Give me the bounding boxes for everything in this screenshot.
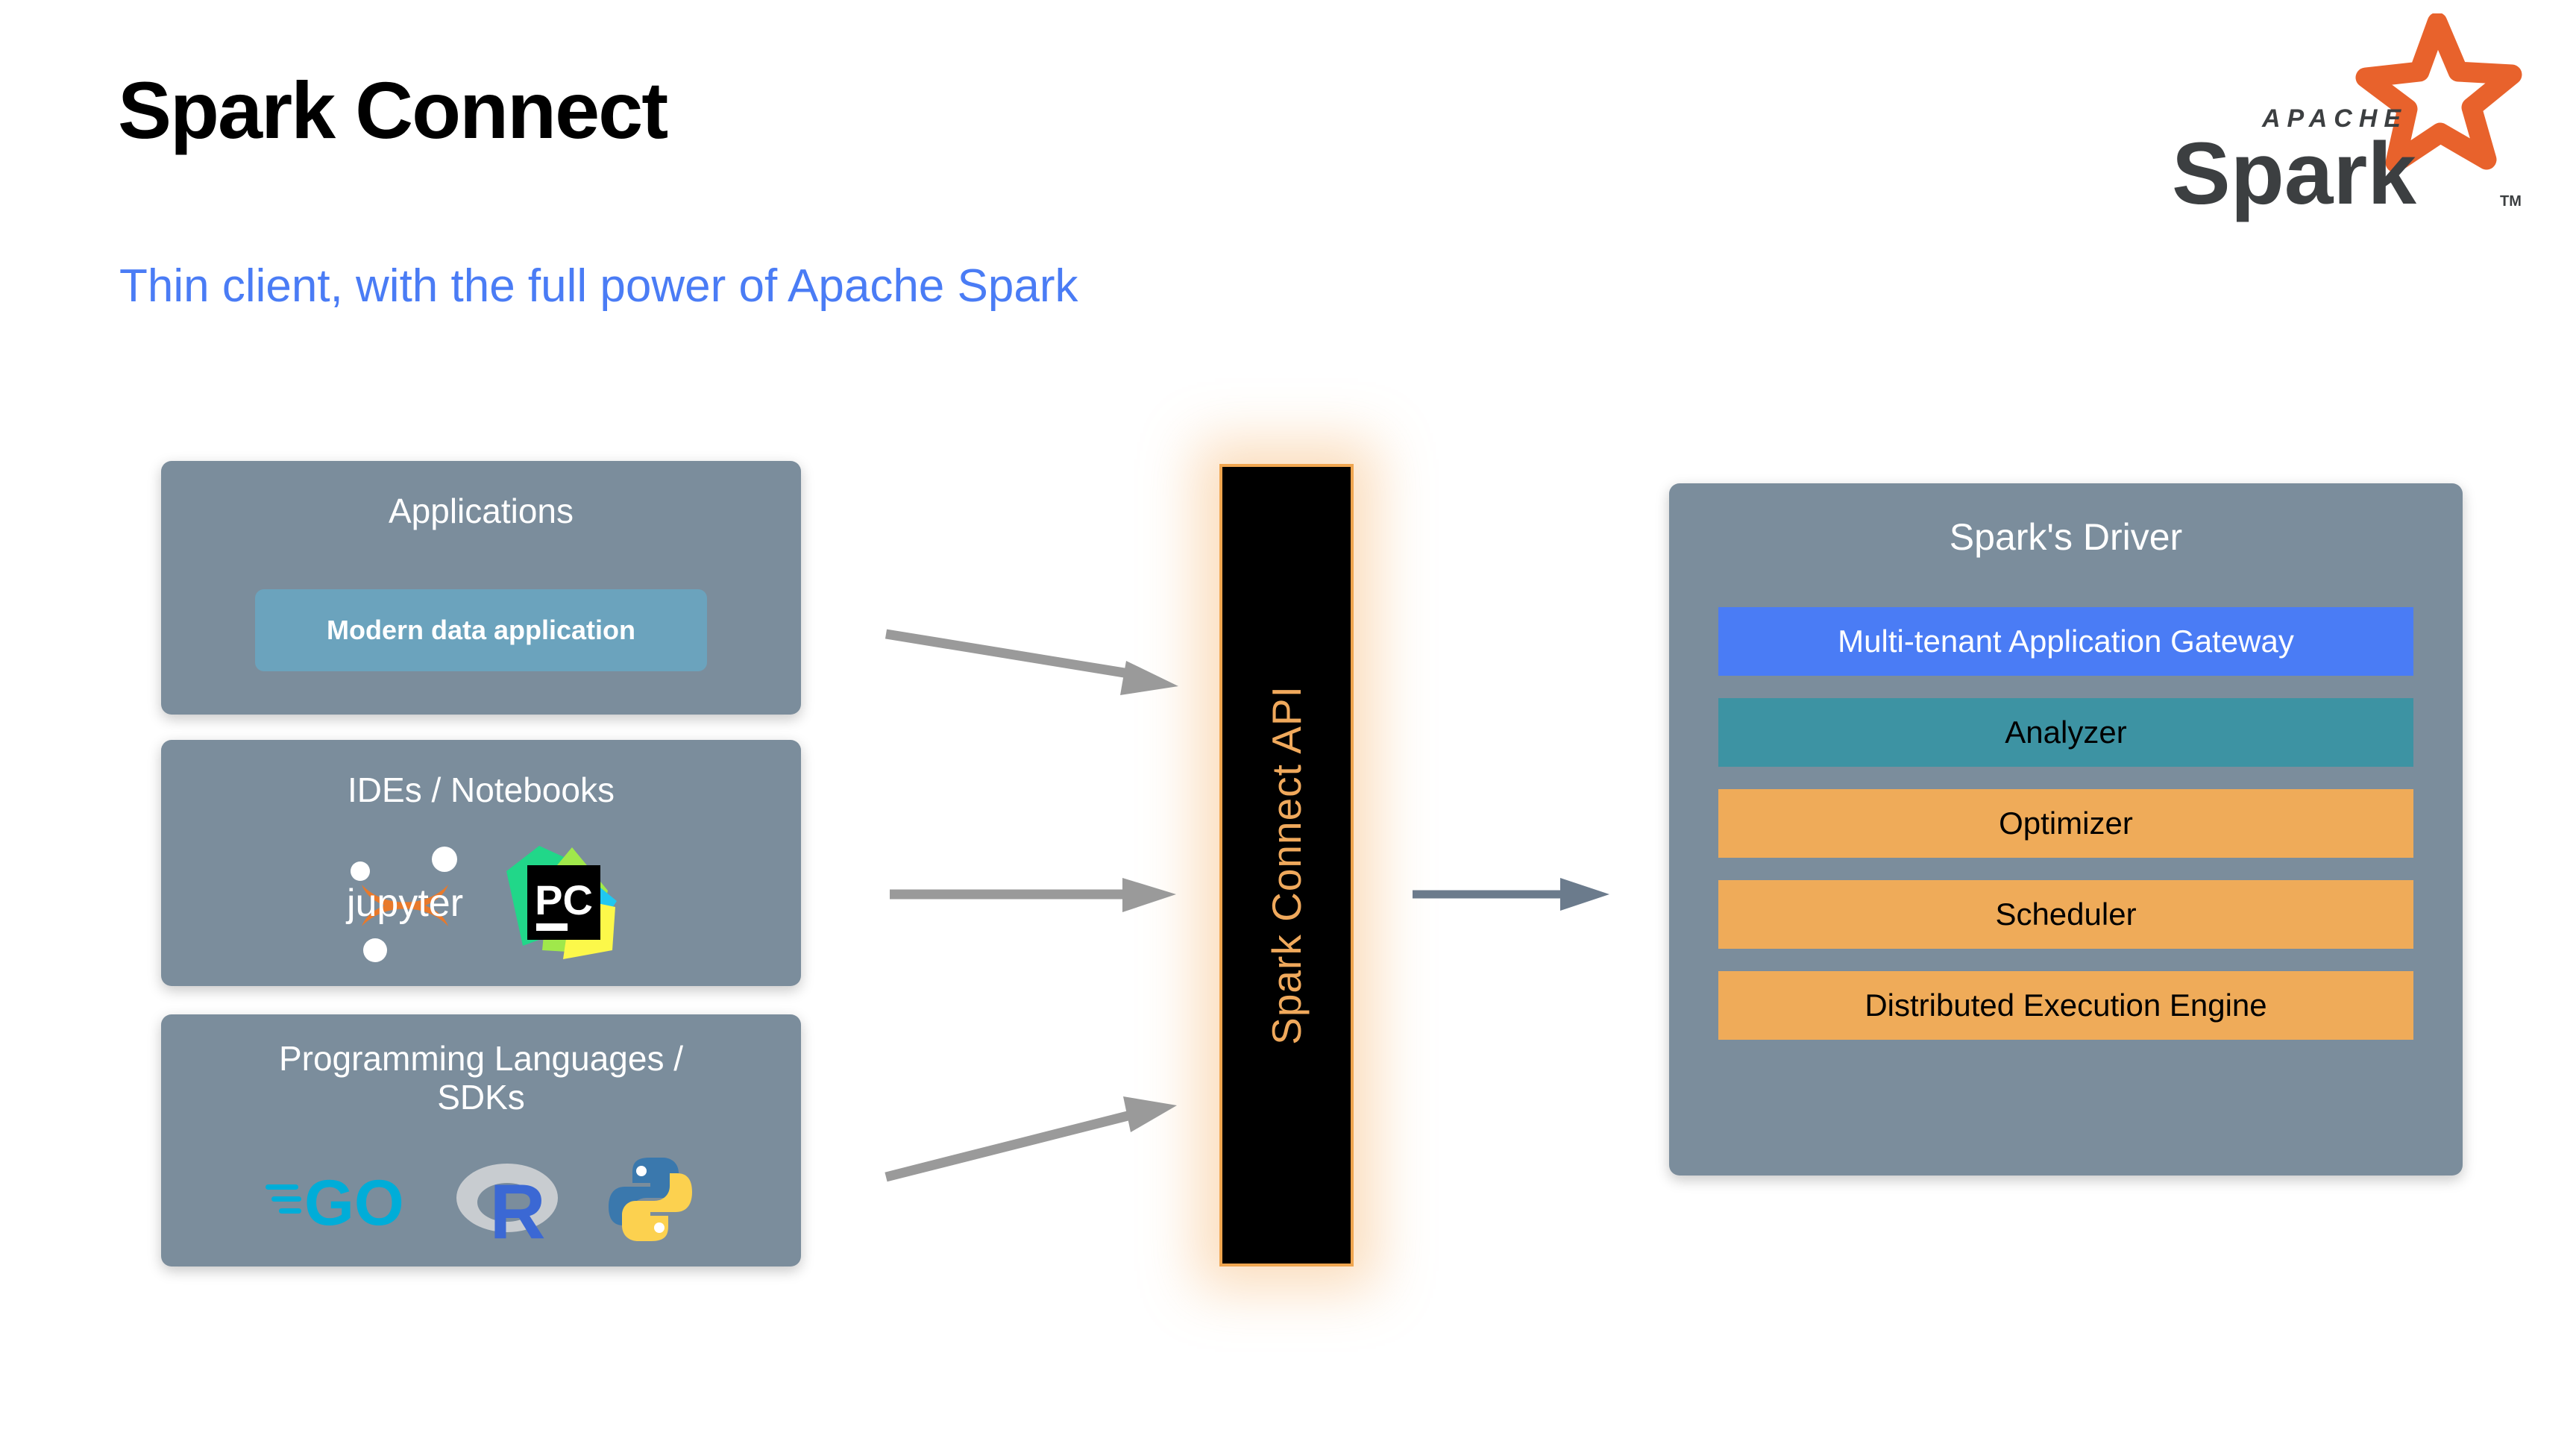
language-logo-row: GO R — [161, 1149, 801, 1253]
driver-row-gateway: Multi-tenant Application Gateway — [1718, 607, 2413, 676]
programming-languages-title-line2: SDKs — [437, 1078, 525, 1117]
arrow-applications-to-api — [880, 619, 1208, 723]
page-subtitle: Thin client, with the full power of Apac… — [119, 260, 1078, 313]
pycharm-logo: PC — [503, 841, 623, 967]
ides-notebooks-panel: IDEs / Notebooks jupyter PC — [161, 740, 801, 986]
driver-row-optimizer: Optimizer — [1718, 789, 2413, 858]
programming-languages-panel: Programming Languages / SDKs GO R — [161, 1014, 801, 1266]
applications-panel: Applications Modern data application — [161, 461, 801, 715]
svg-text:TM: TM — [2500, 193, 2522, 210]
svg-text:Spark: Spark — [2172, 125, 2416, 222]
arrow-languages-to-api — [880, 1059, 1208, 1193]
svg-text:R: R — [489, 1169, 545, 1244]
driver-row-scheduler: Scheduler — [1718, 880, 2413, 949]
ides-notebooks-title: IDEs / Notebooks — [161, 771, 801, 810]
svg-text:GO: GO — [304, 1167, 404, 1235]
go-logo: GO — [266, 1164, 415, 1239]
page-title: Spark Connect — [118, 63, 667, 157]
driver-row-analyzer: Analyzer — [1718, 698, 2413, 767]
spark-connect-api-label: Spark Connect API — [1263, 685, 1310, 1045]
programming-languages-title: Programming Languages / SDKs — [161, 1040, 801, 1117]
arrow-ides-to-api — [884, 861, 1204, 929]
applications-title: Applications — [161, 492, 801, 531]
python-logo — [604, 1153, 697, 1249]
r-logo: R — [453, 1155, 565, 1248]
spark-driver-title: Spark's Driver — [1669, 516, 2463, 558]
jupyter-logo: jupyter — [339, 838, 471, 970]
driver-component-list: Multi-tenant Application Gateway Analyze… — [1718, 607, 2413, 1040]
apache-spark-logo: APACHE Spark TM — [2145, 13, 2533, 222]
svg-text:PC: PC — [535, 876, 593, 923]
programming-languages-title-line1: Programming Languages / — [279, 1039, 683, 1078]
modern-data-application-box: Modern data application — [255, 589, 707, 671]
ide-logo-row: jupyter PC — [161, 837, 801, 971]
svg-text:jupyter: jupyter — [345, 882, 463, 925]
modern-data-application-label: Modern data application — [327, 615, 635, 646]
spark-driver-panel: Spark's Driver Multi-tenant Application … — [1669, 483, 2463, 1176]
arrow-api-to-driver — [1410, 861, 1633, 929]
spark-connect-api-bar: Spark Connect API — [1219, 464, 1354, 1266]
driver-row-execution-engine: Distributed Execution Engine — [1718, 971, 2413, 1040]
